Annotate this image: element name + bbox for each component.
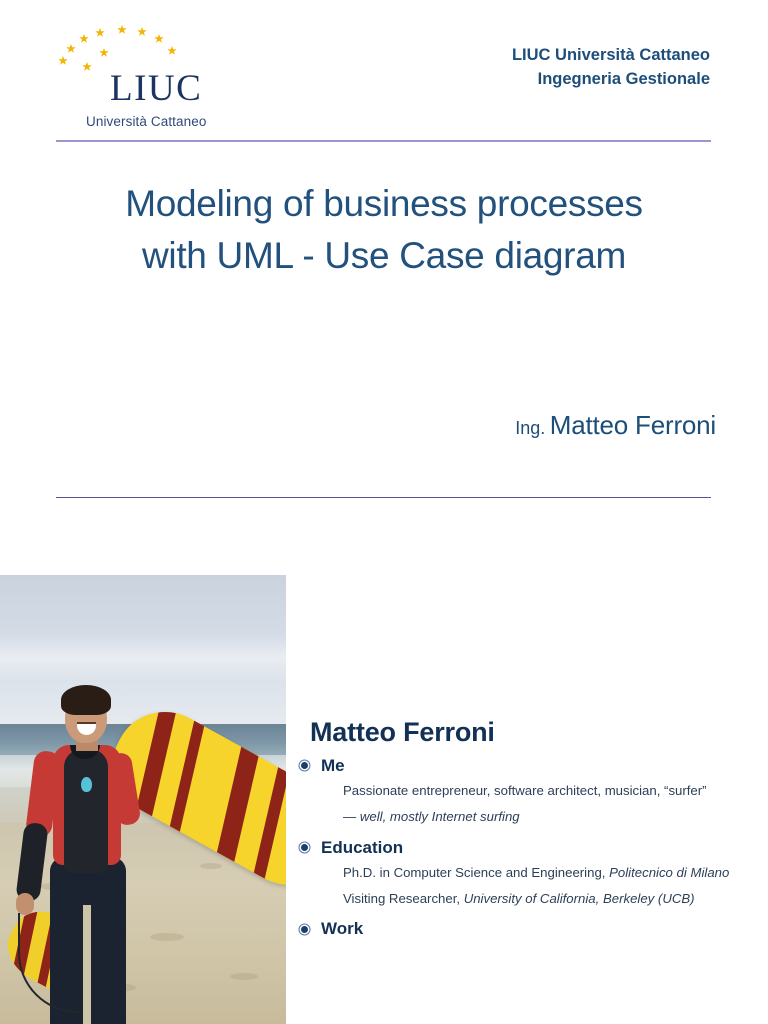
bio-detail-italic: — well, mostly Internet surfing <box>343 809 520 824</box>
author-name: Matteo Ferroni <box>550 410 716 440</box>
photo-wetsuit-badge-icon <box>81 777 92 792</box>
circled-dot-bullet-icon <box>296 762 312 769</box>
photo-surfboard-logo <box>280 810 286 865</box>
circled-dot-bullet-icon <box>296 844 312 851</box>
photo-person-hair <box>61 685 111 715</box>
page-title: Modeling of business processes with UML … <box>0 178 768 282</box>
photo-leg-gap <box>83 905 91 1024</box>
bio-detail-plain: Visiting Researcher, <box>343 891 464 906</box>
bio-section-label: Me <box>321 756 345 776</box>
bio-detail-italic: Politecnico di Milano <box>609 865 729 880</box>
liuc-logo: LIUC Università Cattaneo <box>56 22 236 122</box>
bio-detail-line: Passionate entrepreneur, software archit… <box>343 778 755 804</box>
bio-detail-line: Ph.D. in Computer Science and Engineerin… <box>343 860 755 886</box>
bio-detail-plain: Ph.D. in Computer Science and Engineerin… <box>343 865 609 880</box>
speaker-photo <box>0 575 286 1024</box>
header-divider <box>56 140 711 142</box>
page-title-line2: with UML - Use Case diagram <box>0 230 768 282</box>
institution-title-line2: Ingegneria Gestionale <box>290 67 710 91</box>
institution-title-line1: LIUC Università Cattaneo <box>512 46 710 64</box>
author-honorific: Ing. <box>515 418 545 438</box>
bio-section-label: Work <box>321 919 363 939</box>
bio-detail-italic: University of California, Berkeley (UCB) <box>464 891 695 906</box>
bio-section-me: Me <box>296 756 762 776</box>
circled-dot-bullet-icon <box>296 926 312 933</box>
bio-heading: Matteo Ferroni <box>310 718 762 748</box>
bio-panel: Matteo Ferroni Me Passionate entrepreneu… <box>296 718 762 942</box>
page-title-line1: Modeling of business processes <box>0 178 768 230</box>
photo-person-hand <box>16 893 34 915</box>
institution-title: LIUC Università Cattaneo Ingegneria Gest… <box>290 43 710 92</box>
bio-section-label: Education <box>321 838 403 858</box>
title-divider <box>56 497 711 498</box>
bio-detail-line: — well, mostly Internet surfing <box>343 804 755 830</box>
liuc-wordmark: LIUC <box>110 70 202 107</box>
photo-person-wetsuit-panel <box>64 749 108 873</box>
liuc-logo-subtitle: Università Cattaneo <box>86 114 206 129</box>
bio-detail-line: Visiting Researcher, University of Calif… <box>343 886 755 912</box>
photo-clouds <box>0 635 286 681</box>
author-credit: Ing. Matteo Ferroni <box>515 410 716 441</box>
slide-header: LIUC Università Cattaneo LIUC Università… <box>0 0 768 150</box>
bio-section-work: Work <box>296 919 762 939</box>
bio-section-education: Education <box>296 838 762 858</box>
